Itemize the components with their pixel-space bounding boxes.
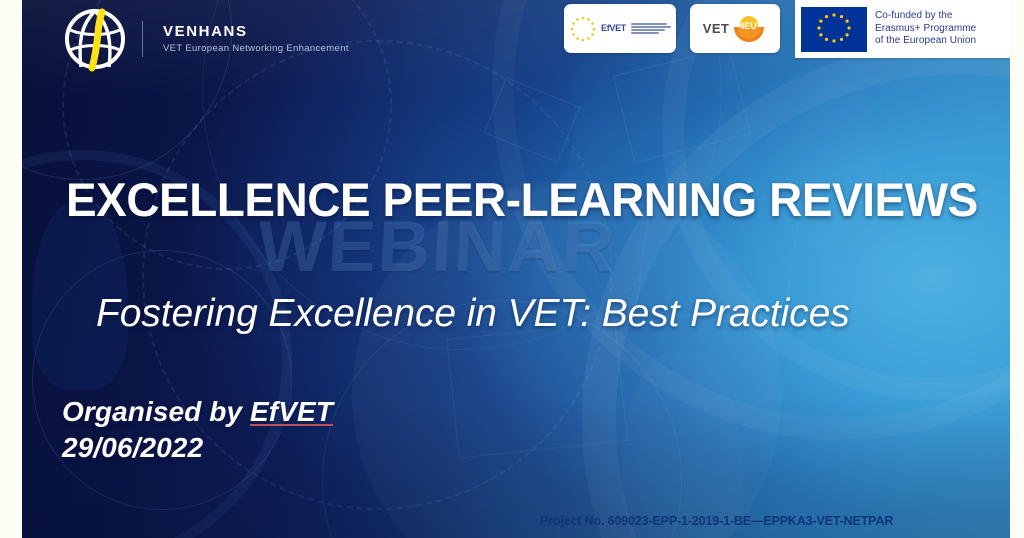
organiser-prefix: Organised by xyxy=(62,396,250,427)
efvet-wordmark: EfVET xyxy=(601,24,626,33)
left-margin-strip xyxy=(0,0,22,538)
svg-text:4EU: 4EU xyxy=(739,21,757,31)
vet4eu-wordmark: VET xyxy=(703,21,729,36)
efvet-subtitle-lines xyxy=(631,23,671,34)
venhans-globe-icon xyxy=(62,6,128,72)
organiser-link-efvet[interactable]: EfVET xyxy=(250,396,333,427)
efvet-logo-card: EfVET xyxy=(564,4,676,53)
project-reference: Project No. 609023-EPP-1-2019-1-BE—EPPKA… xyxy=(540,514,893,528)
presentation-slide: WEBINAR VENHANS VET European Networkin xyxy=(0,0,1024,538)
eu-caption-line-1: Co-funded by the xyxy=(875,10,976,23)
efvet-stars-icon xyxy=(569,15,597,43)
venhans-tagline: VET European Networking Enhancement xyxy=(163,43,349,55)
eu-caption-line-3: of the European Union xyxy=(875,35,976,48)
vet4eu-logo-card: VET 4EU xyxy=(690,4,780,53)
eu-caption: Co-funded by the Erasmus+ Programme of t… xyxy=(875,10,976,48)
vet4eu-sun-icon: 4EU xyxy=(731,12,767,46)
eu-caption-line-2: Erasmus+ Programme xyxy=(875,23,976,36)
event-date: 29/06/2022 xyxy=(62,432,203,464)
right-margin-strip xyxy=(1010,0,1024,538)
venhans-text-block: VENHANS VET European Networking Enhancem… xyxy=(163,23,349,54)
logo-divider xyxy=(142,21,143,57)
slide-title: EXCELLENCE PEER-LEARNING REVIEWS xyxy=(66,172,978,227)
eu-cofunding-banner: Co-funded by the Erasmus+ Programme of t… xyxy=(795,0,1010,58)
venhans-name: VENHANS xyxy=(163,23,349,40)
slide-header: VENHANS VET European Networking Enhancem… xyxy=(0,0,1024,62)
eu-flag-icon xyxy=(801,7,867,52)
organiser-line: Organised by EfVET xyxy=(62,396,333,428)
venhans-logo-lockup: VENHANS VET European Networking Enhancem… xyxy=(62,6,349,72)
slide-subtitle: Fostering Excellence in VET: Best Practi… xyxy=(96,292,850,336)
